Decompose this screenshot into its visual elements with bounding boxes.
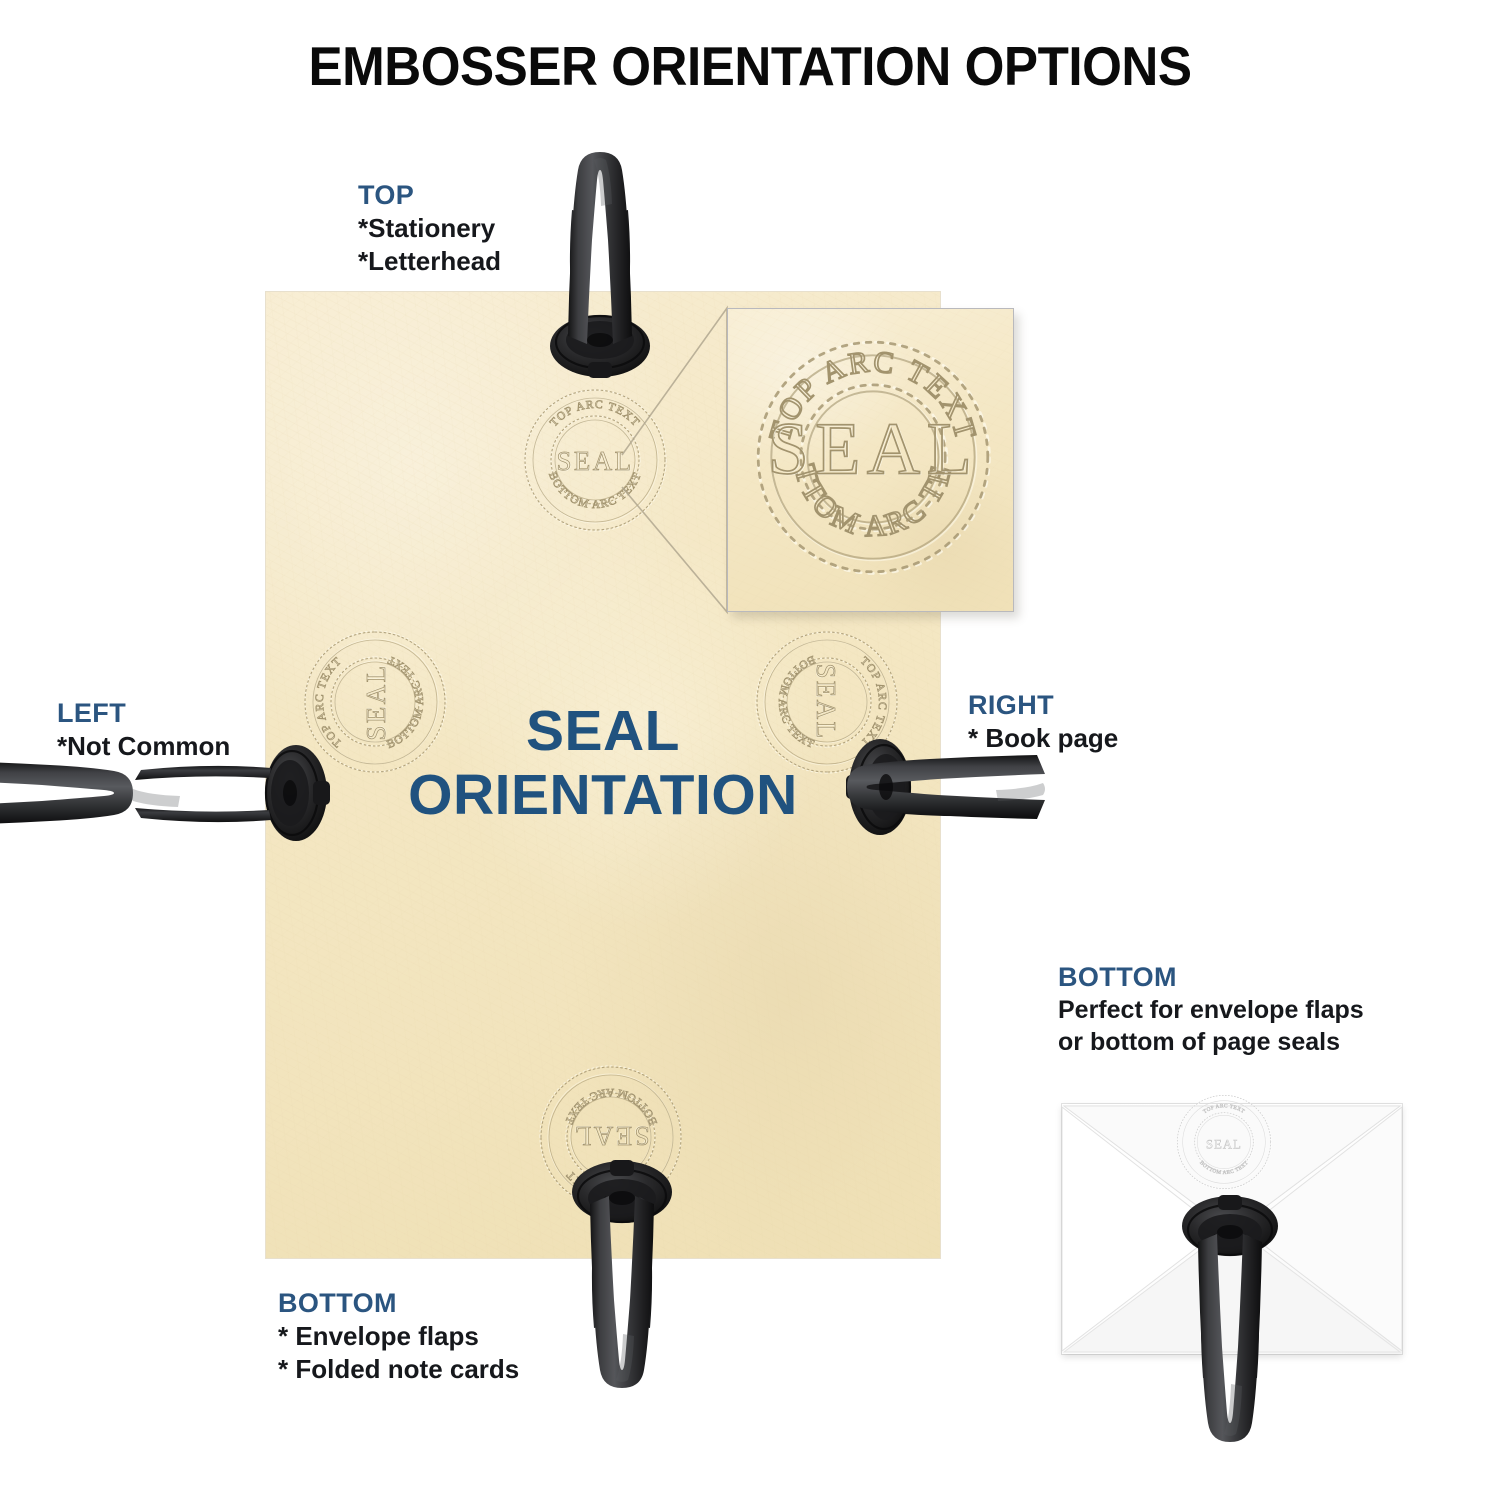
callout-left: LEFT *Not Common bbox=[57, 698, 230, 763]
callout-top-line-1: *Stationery bbox=[358, 212, 501, 245]
callout-right: RIGHT * Book page bbox=[968, 690, 1118, 755]
callout-top-line-2: *Letterhead bbox=[358, 245, 501, 278]
callout-bottom-paper: BOTTOM * Envelope flaps * Folded note ca… bbox=[278, 1288, 519, 1386]
svg-text:TOP ARC TEXT: TOP ARC TEXT bbox=[1202, 1103, 1246, 1115]
callout-right-heading: RIGHT bbox=[968, 690, 1118, 722]
callout-right-line-1: * Book page bbox=[968, 722, 1118, 755]
seal-orientation-label: SEAL ORIENTATION bbox=[266, 700, 940, 828]
embosser-bottom bbox=[570, 1152, 674, 1392]
callout-bottom-envelope-line-1: Perfect for envelope flaps bbox=[1058, 994, 1364, 1026]
center-line-2: ORIENTATION bbox=[266, 764, 940, 828]
callout-bottom-paper-line-2: * Folded note cards bbox=[278, 1353, 519, 1386]
center-line-1: SEAL bbox=[266, 700, 940, 764]
embosser-top bbox=[548, 150, 652, 380]
callout-bottom-paper-heading: BOTTOM bbox=[278, 1288, 519, 1320]
callout-top-heading: TOP bbox=[358, 180, 501, 212]
callout-bottom-paper-line-1: * Envelope flaps bbox=[278, 1320, 519, 1353]
seal-center-text: SEAL bbox=[768, 407, 979, 489]
page-title: EMBOSSER ORIENTATION OPTIONS bbox=[53, 34, 1448, 98]
magnified-seal-panel: TOP ARC TEXT TOP ARC TEXT BOTTOM ARC TEX… bbox=[727, 308, 1014, 612]
seal-center-text: SEAL bbox=[572, 1121, 649, 1151]
seal-center-text: SEAL bbox=[556, 446, 633, 476]
seal-center-text: SEAL bbox=[1206, 1138, 1242, 1152]
diagram-canvas: EMBOSSER ORIENTATION OPTIONS TOP ARC TEX… bbox=[0, 0, 1500, 1500]
callout-top: TOP *Stationery *Letterhead bbox=[358, 180, 501, 278]
embosser-envelope bbox=[1178, 1186, 1282, 1446]
callout-left-line-1: *Not Common bbox=[57, 730, 230, 763]
callout-left-heading: LEFT bbox=[57, 698, 230, 730]
seal-impression-envelope: TOP ARC TEXT TOP ARC TEXT BOTTOM ARC TEX… bbox=[1174, 1092, 1274, 1192]
seal-impression-top: TOP ARC TEXT TOP ARC TEXT BOTTOM ARC TEX… bbox=[520, 385, 670, 535]
seal-top-arc-text: TOP ARC TEXT bbox=[1202, 1103, 1246, 1115]
seal-impression-magnified: TOP ARC TEXT TOP ARC TEXT BOTTOM ARC TEX… bbox=[750, 334, 996, 580]
svg-text:TOP ARC TEXT: TOP ARC TEXT bbox=[548, 399, 642, 429]
callout-bottom-envelope-line-2: or bottom of page seals bbox=[1058, 1026, 1364, 1058]
callout-bottom-envelope: BOTTOM Perfect for envelope flaps or bot… bbox=[1058, 962, 1364, 1058]
callout-bottom-envelope-heading: BOTTOM bbox=[1058, 962, 1364, 994]
